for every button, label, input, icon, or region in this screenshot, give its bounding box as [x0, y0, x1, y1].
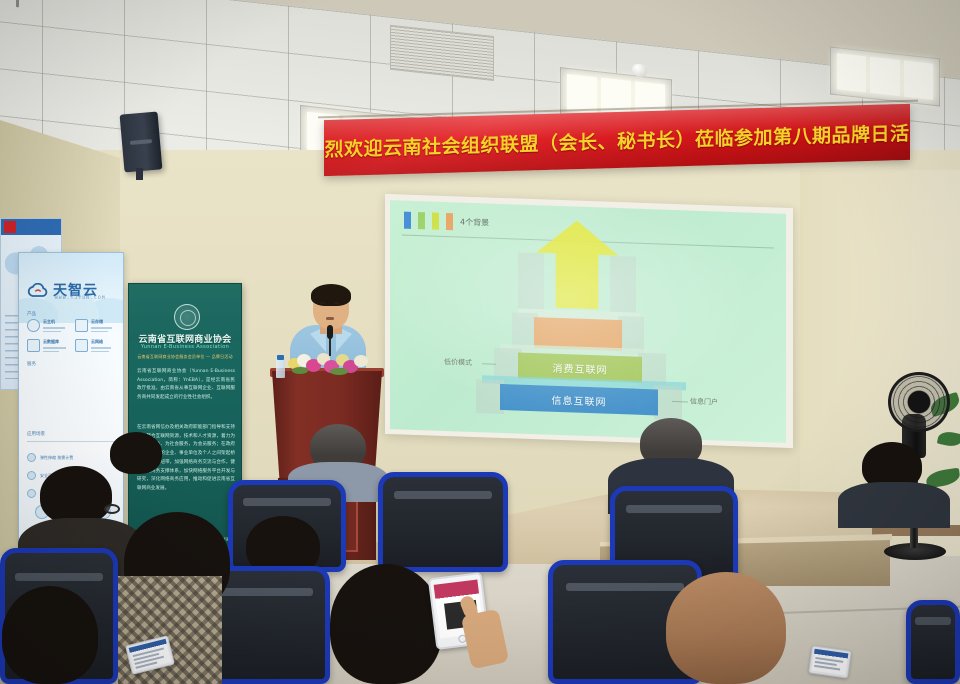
welcome-banner-text: 热烈欢迎云南社会组织联盟（会长、秘书长）莅临参加第八期品牌日活动	[324, 118, 910, 162]
poster-feature-item: 云主机	[27, 319, 69, 332]
audience-head	[666, 572, 786, 684]
cloud-icon	[27, 283, 49, 298]
poster-divider	[27, 441, 117, 442]
projected-slide: 4个背景 消费互联网 信息互联网 低价模式 信息门户	[390, 200, 786, 443]
presenter-eye-right	[334, 302, 339, 304]
poster-feature-grid: 云主机 云存储 云数据库 云	[27, 319, 117, 352]
water-bottle-cap	[277, 355, 284, 360]
poster-feature-title: 云主机	[43, 319, 69, 325]
microphone-icon	[327, 325, 333, 339]
bullet-dot-icon	[27, 489, 36, 498]
flower-blossom	[354, 355, 368, 367]
gauge-icon	[27, 319, 40, 332]
conference-room-photo: 热烈欢迎云南社会组织联盟（会长、秘书长）莅临参加第八期品牌日活动 4个背景 消费…	[0, 0, 960, 684]
network-icon	[75, 339, 88, 352]
pyramid-tier-top-arrow	[536, 219, 618, 310]
grid-icon	[75, 319, 88, 332]
tianzhiyun-url: WWW.TJYUN.COM	[55, 296, 106, 301]
audience-head	[330, 564, 442, 684]
audience-chair[interactable]	[906, 600, 960, 684]
fan-hub	[908, 391, 930, 413]
association-paragraph-1: 云南省互联网商业协会（Yunnan E-Business Association…	[137, 368, 235, 403]
audience-head	[2, 586, 98, 684]
pyramid-annotation-right: 信息门户	[690, 397, 718, 408]
audience-shoulders	[838, 482, 950, 528]
presenter-eye-left	[320, 302, 325, 304]
poster-bullet-text: 弹性伸缩 按需计费	[40, 455, 73, 461]
phone-screen[interactable]	[129, 639, 172, 671]
phone-device[interactable]	[808, 645, 852, 678]
poster-feature-item: 云网络	[75, 339, 117, 352]
audience-chair[interactable]	[378, 472, 508, 572]
poster-section-title-scenarios: 应用场景	[27, 431, 45, 437]
audience-head	[40, 466, 112, 524]
flower-leaf	[330, 368, 348, 375]
poster-feature-title: 云存储	[91, 319, 117, 325]
pyramid-annotation-left: 低价模式	[444, 357, 472, 368]
pyramid-top-wing-right	[610, 256, 636, 313]
audience-head	[110, 432, 162, 474]
phone-screen[interactable]	[812, 649, 849, 676]
association-subtitle: Yunnan E-Business Association	[129, 344, 241, 350]
pyramid-annotation-left-leader	[482, 363, 496, 364]
association-seal-icon	[174, 304, 200, 330]
poster-feature-text: 云主机	[43, 319, 69, 332]
poster-feature-text: 云网络	[91, 339, 117, 352]
presenter-hair	[311, 284, 351, 306]
wall-speaker-icon	[120, 111, 163, 172]
secondary-poster-badge	[4, 221, 16, 233]
podium-flower-arrangement	[286, 349, 372, 375]
poster-section-title-products: 产品	[27, 311, 36, 317]
poster-section-title-services: 服务	[27, 361, 36, 367]
poster-feature-text: 云存储	[91, 319, 117, 332]
speaker-bracket	[136, 168, 143, 180]
eyeglasses-icon	[104, 504, 120, 514]
association-kicker: 云南省互联网商业协会服务会员单位 — 品牌日活动	[129, 354, 241, 360]
poster-bullet-item: 弹性伸缩 按需计费	[27, 453, 119, 462]
bullet-dot-icon	[27, 453, 36, 462]
database-icon	[27, 339, 40, 352]
flower-leaf	[292, 367, 308, 374]
pyramid-top-wing-left	[518, 253, 544, 310]
poster-feature-title: 云数据库	[43, 339, 69, 345]
bullet-dot-icon	[27, 471, 36, 480]
water-bottle	[276, 358, 285, 378]
poster-feature-item: 云数据库	[27, 339, 69, 352]
poster-feature-text: 云数据库	[43, 339, 69, 352]
pyramid-tier-blue-wing-right	[654, 385, 682, 420]
sprinkler-head	[16, 0, 19, 7]
pyramid-diagram: 消费互联网 信息互联网 低价模式 信息门户	[390, 200, 786, 443]
poster-feature-item: 云存储	[75, 319, 117, 332]
pyramid-tier-blue-label: 信息互联网	[500, 384, 658, 416]
presenter-mouth	[326, 317, 334, 320]
poster-feature-title: 云网络	[91, 339, 117, 345]
